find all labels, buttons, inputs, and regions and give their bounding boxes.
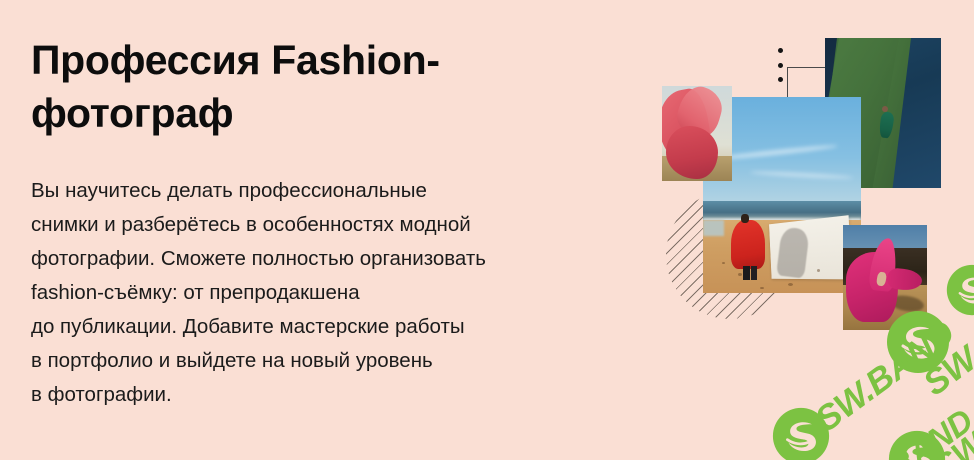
promo-description: Вы научитесь делать профессиональные сни… [31, 141, 631, 412]
beach-red-cape-figure [731, 220, 764, 269]
beach-sand-speck [722, 262, 725, 264]
page-title: Профессия Fashion- фотограф [31, 34, 631, 141]
promo-banner: Профессия Fashion- фотограф Вы научитесь… [0, 0, 974, 460]
aerial-person-head [882, 106, 888, 112]
photo-pink-flowing-fabric [662, 86, 732, 181]
photo-collage [640, 0, 974, 460]
photo-magenta-fabric-field [843, 225, 927, 330]
beach-shore-left [703, 220, 724, 236]
three-dots-icon [778, 48, 784, 82]
beach-figure-head [741, 214, 749, 223]
beach-figure-leg-left [743, 266, 750, 280]
promo-text-column: Профессия Fashion- фотограф Вы научитесь… [31, 34, 631, 412]
pinkfabric-cloth-c [666, 126, 718, 179]
beach-figure-leg-right [751, 266, 757, 280]
